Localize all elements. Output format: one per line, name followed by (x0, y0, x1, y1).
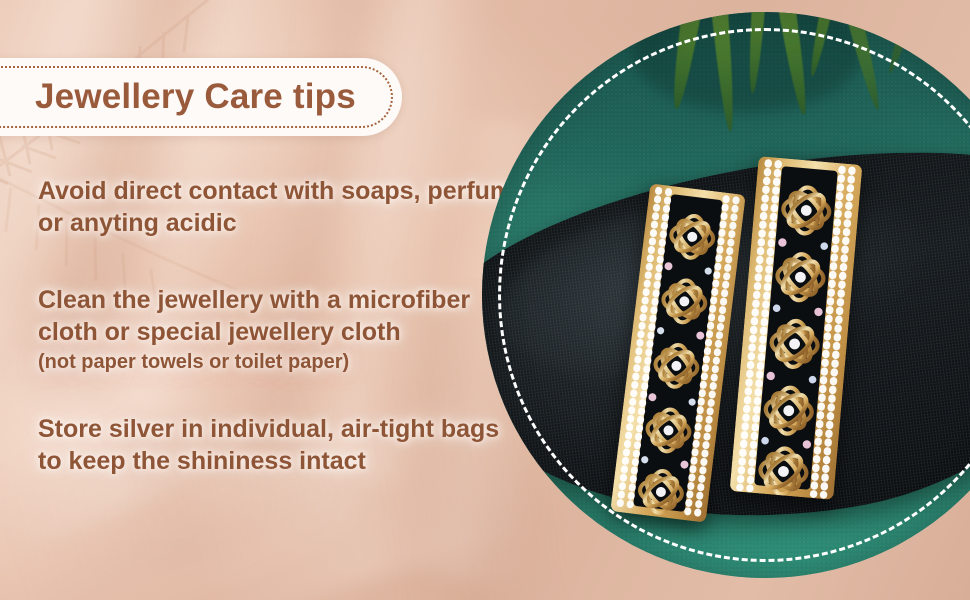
care-tip-text: Clean the jewellery with a microfiberclo… (38, 285, 558, 348)
care-tip-item: Clean the jewellery with a microfiberclo… (38, 285, 558, 374)
care-tips-list: Avoid direct contact with soaps, perfume… (38, 176, 558, 503)
page-title: Jewellery Care tips (35, 77, 356, 117)
care-tip-text: Store silver in individual, air-tight ba… (38, 414, 558, 477)
jewellery-care-infographic: Jewellery Care tips Avoid direct contact… (0, 0, 970, 600)
care-tip-subtext: (not paper towels or toilet paper) (38, 350, 558, 374)
care-tip-item: Avoid direct contact with soaps, perfume… (38, 176, 558, 239)
care-tip-item: Store silver in individual, air-tight ba… (38, 414, 558, 477)
product-photo (482, 12, 970, 578)
care-tip-text: Avoid direct contact with soaps, perfume… (38, 176, 558, 239)
product-photo-circle (482, 12, 970, 578)
title-badge: Jewellery Care tips (0, 58, 402, 136)
